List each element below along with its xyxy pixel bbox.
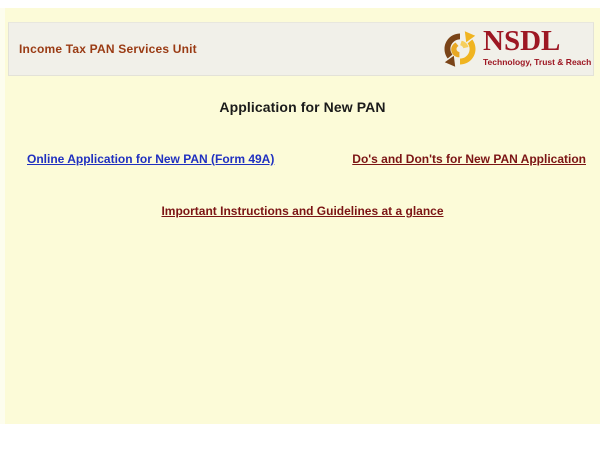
link-important-instructions-and-guidelines[interactable]: Important Instructions and Guidelines at… bbox=[161, 204, 443, 218]
page-title: Application for New PAN bbox=[5, 99, 600, 115]
link-dos-and-donts[interactable]: Do's and Don'ts for New PAN Application bbox=[352, 152, 586, 166]
nsdl-tagline: Technology, Trust & Reach bbox=[483, 57, 587, 67]
unit-title: Income Tax PAN Services Unit bbox=[19, 42, 197, 56]
nsdl-wordmark: NSDL Technology, Trust & Reach bbox=[483, 26, 587, 67]
site-header: Income Tax PAN Services Unit bbox=[8, 22, 594, 76]
nsdl-brand-name: NSDL bbox=[483, 26, 587, 56]
main-content: Application for New PAN Online Applicati… bbox=[5, 76, 600, 424]
primary-links-row: Online Application for New PAN (Form 49A… bbox=[5, 152, 600, 170]
nsdl-logo: NSDL Technology, Trust & Reach bbox=[439, 26, 587, 74]
nsdl-swirl-logo-icon bbox=[439, 29, 481, 69]
browser-page: Income Tax PAN Services Unit bbox=[0, 0, 600, 450]
instructions-link-row: Important Instructions and Guidelines at… bbox=[5, 202, 600, 220]
link-online-application-form-49a[interactable]: Online Application for New PAN (Form 49A… bbox=[27, 152, 274, 166]
